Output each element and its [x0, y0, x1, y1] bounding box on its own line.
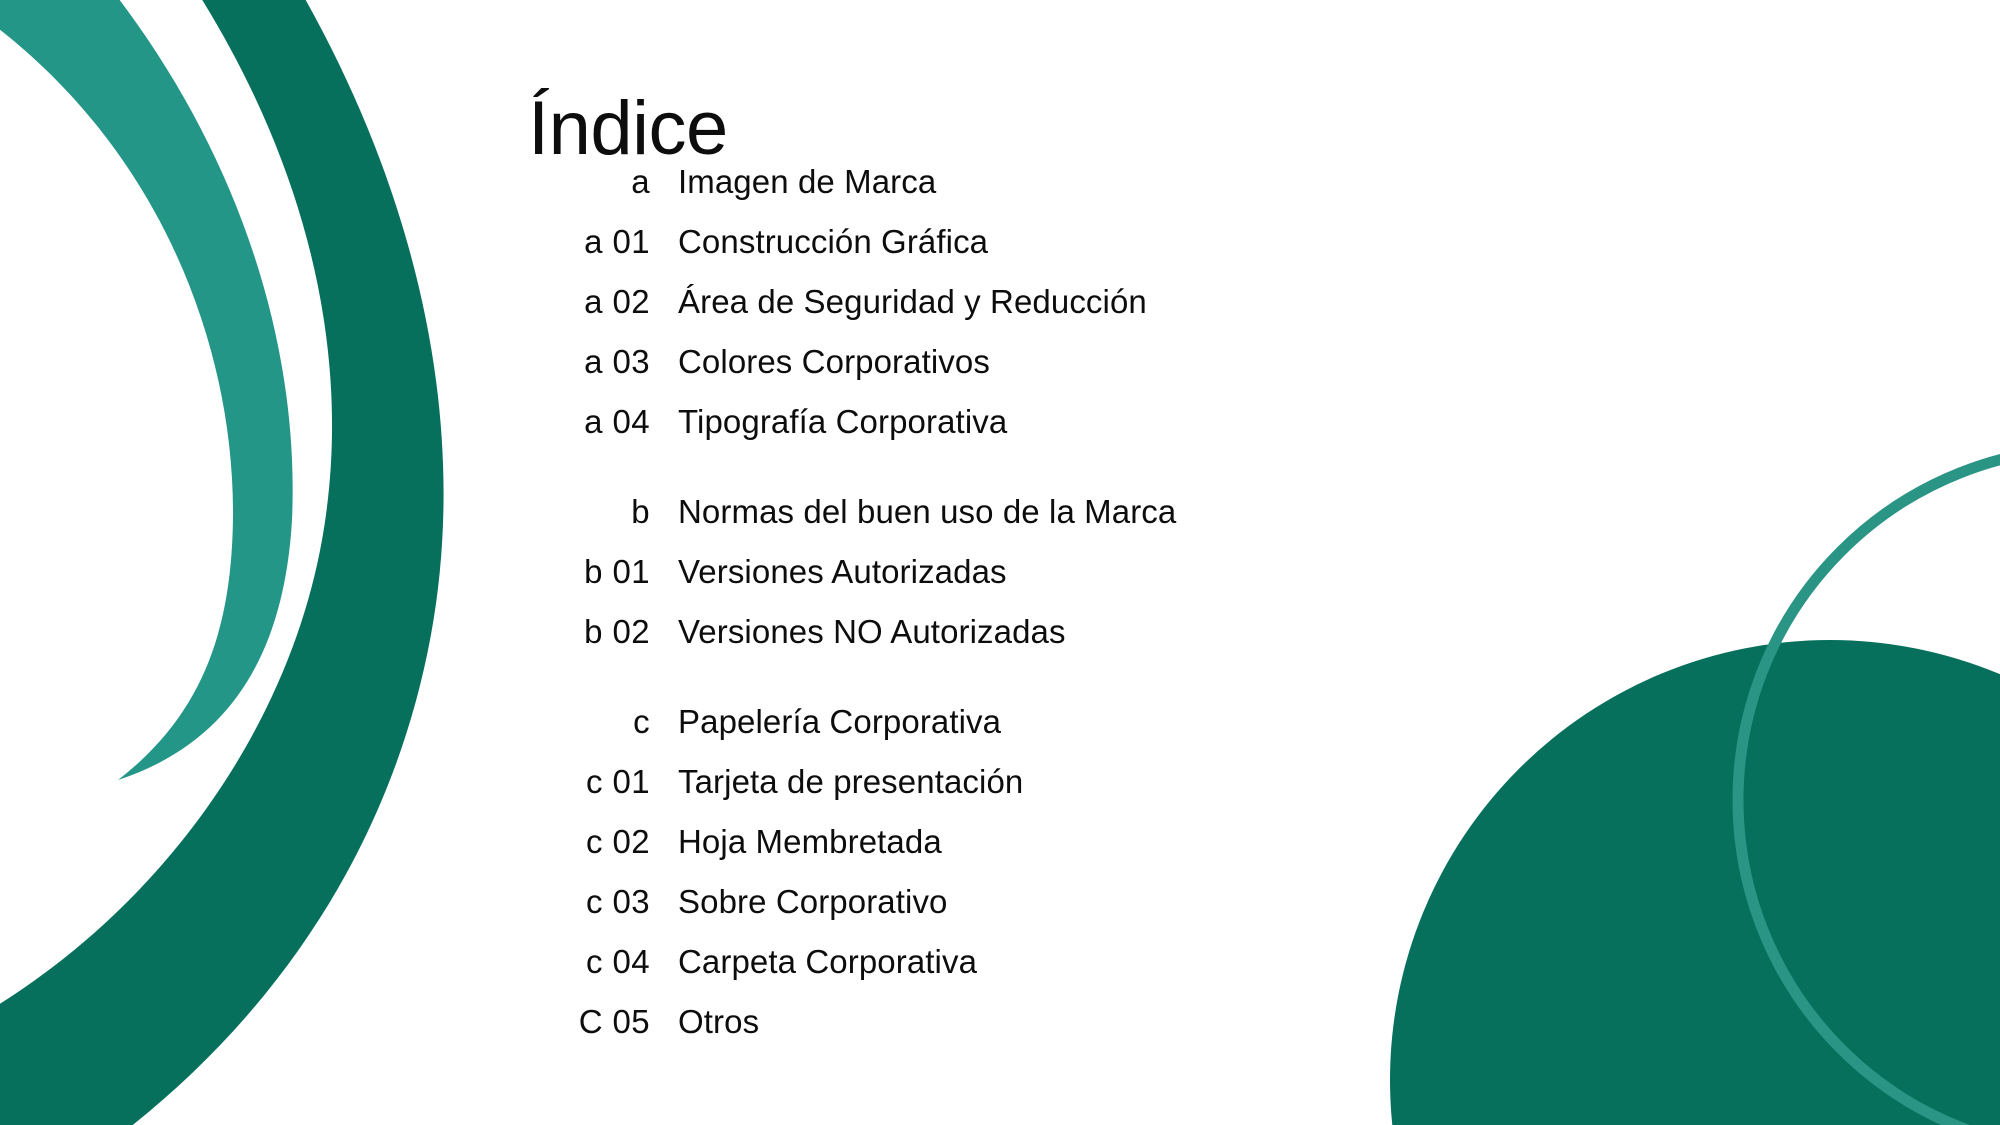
index-row[interactable]: c 01 Tarjeta de presentación: [440, 752, 1340, 812]
index-row[interactable]: a 02 Área de Seguridad y Reducción: [440, 272, 1340, 332]
index-row-code: b 02: [440, 602, 650, 662]
index-row-label: Carpeta Corporativa: [650, 932, 977, 992]
index-row-label: Otros: [650, 992, 759, 1052]
index-row-code: a 02: [440, 272, 650, 332]
index-row-code: a 03: [440, 332, 650, 392]
index-row-label: Versiones NO Autorizadas: [650, 602, 1066, 662]
index-row[interactable]: a 03 Colores Corporativos: [440, 332, 1340, 392]
index-row-label: Normas del buen uso de la Marca: [650, 482, 1176, 542]
index-row-code: a 01: [440, 212, 650, 272]
index-row-label: Área de Seguridad y Reducción: [650, 272, 1147, 332]
slide-content: Índice a Imagen de Marca a 01 Construcci…: [0, 0, 2000, 1125]
index-row[interactable]: b 01 Versiones Autorizadas: [440, 542, 1340, 602]
index-row-label: Papelería Corporativa: [650, 692, 1001, 752]
index-row-code: b: [440, 482, 650, 542]
index-list: a Imagen de Marca a 01 Construcción Gráf…: [440, 152, 1340, 1052]
index-group-c: c Papelería Corporativa c 01 Tarjeta de …: [440, 692, 1340, 1052]
index-row-label: Sobre Corporativo: [650, 872, 948, 932]
index-row-code: a: [440, 152, 650, 212]
index-row-code: c 02: [440, 812, 650, 872]
index-row-code: c 04: [440, 932, 650, 992]
index-row-label: Tipografía Corporativa: [650, 392, 1007, 452]
index-row[interactable]: b 02 Versiones NO Autorizadas: [440, 602, 1340, 662]
index-row-label: Colores Corporativos: [650, 332, 990, 392]
index-row-code: c 03: [440, 872, 650, 932]
index-row[interactable]: a 04 Tipografía Corporativa: [440, 392, 1340, 452]
index-row[interactable]: c Papelería Corporativa: [440, 692, 1340, 752]
index-row-code: a 04: [440, 392, 650, 452]
index-row[interactable]: a 01 Construcción Gráfica: [440, 212, 1340, 272]
index-row-code: c 01: [440, 752, 650, 812]
index-row[interactable]: c 04 Carpeta Corporativa: [440, 932, 1340, 992]
index-row-code: C 05: [440, 992, 650, 1052]
index-group-a: a Imagen de Marca a 01 Construcción Gráf…: [440, 152, 1340, 452]
index-row[interactable]: C 05 Otros: [440, 992, 1340, 1052]
index-row[interactable]: b Normas del buen uso de la Marca: [440, 482, 1340, 542]
index-row-code: b 01: [440, 542, 650, 602]
slide-root: Índice a Imagen de Marca a 01 Construcci…: [0, 0, 2000, 1125]
index-row[interactable]: c 02 Hoja Membretada: [440, 812, 1340, 872]
index-row-label: Versiones Autorizadas: [650, 542, 1007, 602]
index-row[interactable]: a Imagen de Marca: [440, 152, 1340, 212]
index-row[interactable]: c 03 Sobre Corporativo: [440, 872, 1340, 932]
index-row-label: Tarjeta de presentación: [650, 752, 1023, 812]
index-row-label: Hoja Membretada: [650, 812, 942, 872]
index-row-code: c: [440, 692, 650, 752]
index-row-label: Construcción Gráfica: [650, 212, 988, 272]
index-row-label: Imagen de Marca: [650, 152, 936, 212]
index-group-b: b Normas del buen uso de la Marca b 01 V…: [440, 482, 1340, 662]
